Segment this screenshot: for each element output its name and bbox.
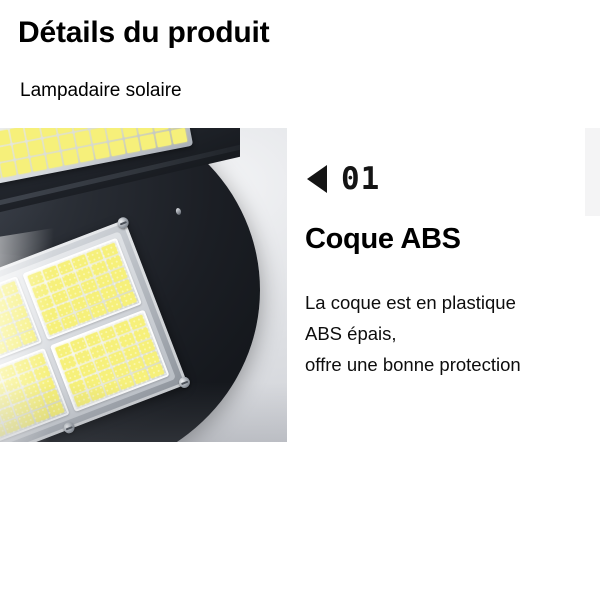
feature-description-line: La coque est en plastique [305,287,597,318]
led-chip [25,128,41,140]
led-chip [90,303,107,318]
led-chip [18,413,35,428]
page-header: Détails du produit Lampadaire solaire [0,0,600,128]
led-chip [3,419,20,434]
right-edge-strip [585,128,600,216]
led-chip [156,131,172,147]
led-chip [44,136,60,152]
led-chip [106,128,122,141]
led-chip [140,134,156,150]
led-chip [0,130,10,146]
led-chip [93,143,109,159]
led-chip [124,137,140,153]
led-chip [148,363,165,378]
led-chip [109,140,125,156]
led-chip [171,128,187,144]
led-chip [74,392,91,407]
led-chip [28,139,44,155]
feature-description-line: offre une bonne protection [305,349,597,380]
led-chip [40,128,56,137]
led-chip [76,308,93,323]
led-chip [59,133,75,149]
led-chip [121,128,137,138]
led-chip [90,128,106,144]
product-photo [0,128,287,442]
led-chip [9,128,25,143]
step-number: 01 [341,164,380,195]
led-chip [31,155,47,171]
led-chip [88,386,105,401]
feature-title: Coque ABS [305,222,461,256]
led-chip [5,335,22,350]
feature-description-line: ABS épais, [305,318,597,349]
led-chip [47,152,63,168]
page-footer-blank [0,442,600,600]
arrow-left-icon [307,165,327,193]
led-chip [46,320,63,335]
led-chip [48,402,65,417]
led-chip [12,142,28,158]
led-chip [120,291,137,306]
led-chip [62,149,78,165]
led-chip [15,158,31,174]
feature-info-panel: 01 Coque ABS La coque est en plastique A… [287,128,600,442]
led-chip [0,161,16,177]
led-chip [20,330,37,345]
led-chip [133,369,150,384]
led-chip [33,407,50,422]
product-detail-section: 01 Coque ABS La coque est en plastique A… [0,128,600,442]
led-chip [78,146,94,162]
page-title: Détails du produit [18,14,269,52]
led-chip [105,297,122,312]
led-chip [118,375,135,390]
led-chip [0,145,13,161]
led-chip [103,380,120,395]
led-chip [61,314,78,329]
feature-description: La coque est en plastique ABS épais, off… [305,287,597,380]
page-subtitle: Lampadaire solaire [20,79,182,103]
step-marker: 01 [307,162,380,196]
led-chip [75,130,91,146]
